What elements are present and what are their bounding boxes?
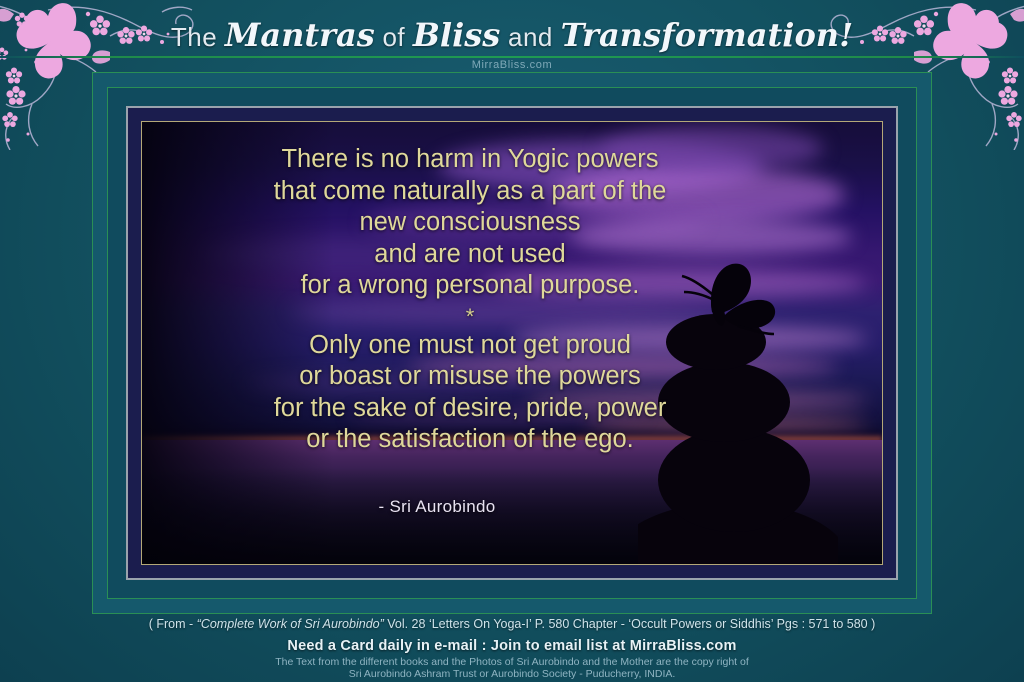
mailing-list-callout[interactable]: Need a Card daily in e-mail : Join to em…	[0, 638, 1024, 654]
quote-line: new consciousness	[160, 207, 780, 239]
quote-line: or the satisfaction of the ego.	[160, 424, 780, 456]
quote-line: or boast or misuse the powers	[160, 361, 780, 393]
card-header: The Mantras of Bliss and Transformation!	[0, 0, 1024, 55]
quote-attribution: - Sri Aurobindo	[202, 497, 672, 517]
source-book-title: “Complete Work of Sri Aurobindo”	[197, 617, 384, 631]
quote-line: Only one must not get proud	[160, 330, 780, 362]
page-title: The Mantras of Bliss and Transformation!	[0, 16, 1024, 54]
quote-line: that come naturally as a part of the	[160, 176, 780, 208]
source-citation: ( From - “Complete Work of Sri Aurobindo…	[0, 617, 1024, 631]
picture-mat: There is no harm in Yogic powers that co…	[126, 106, 898, 580]
quote-line: for the sake of desire, pride, power	[160, 393, 780, 425]
copyright-line-2: Sri Aurobindo Ashram Trust or Aurobindo …	[0, 668, 1024, 680]
title-word-mantras: Mantras	[225, 16, 375, 54]
header-divider	[0, 56, 1024, 58]
source-suffix: Vol. 28 ‘Letters On Yoga-I’ P. 580 Chapt…	[384, 617, 875, 631]
greeting-card: The Mantras of Bliss and Transformation!…	[0, 0, 1024, 682]
copyright-line-1: The Text from the different books and th…	[0, 656, 1024, 668]
sunset-photo: There is no harm in Yogic powers that co…	[142, 122, 882, 564]
picture-frame-outer: There is no harm in Yogic powers that co…	[92, 72, 932, 614]
picture-frame-inner: There is no harm in Yogic powers that co…	[107, 87, 917, 599]
title-word-bliss: Bliss	[413, 16, 500, 54]
title-word-and: and	[500, 22, 560, 52]
quote-line: There is no harm in Yogic powers	[160, 144, 780, 176]
title-word-of: of	[375, 22, 413, 52]
site-name: MirraBliss.com	[0, 59, 1024, 71]
quote-line: for a wrong personal purpose.	[160, 270, 780, 302]
quote-line: and are not used	[160, 239, 780, 271]
quote-separator: *	[160, 304, 780, 330]
title-word-the: The	[171, 22, 225, 52]
photo-border: There is no harm in Yogic powers that co…	[141, 121, 883, 565]
title-word-transformation: Transformation!	[561, 16, 854, 54]
quote-text: There is no harm in Yogic powers that co…	[160, 144, 780, 456]
source-prefix: ( From -	[149, 617, 197, 631]
